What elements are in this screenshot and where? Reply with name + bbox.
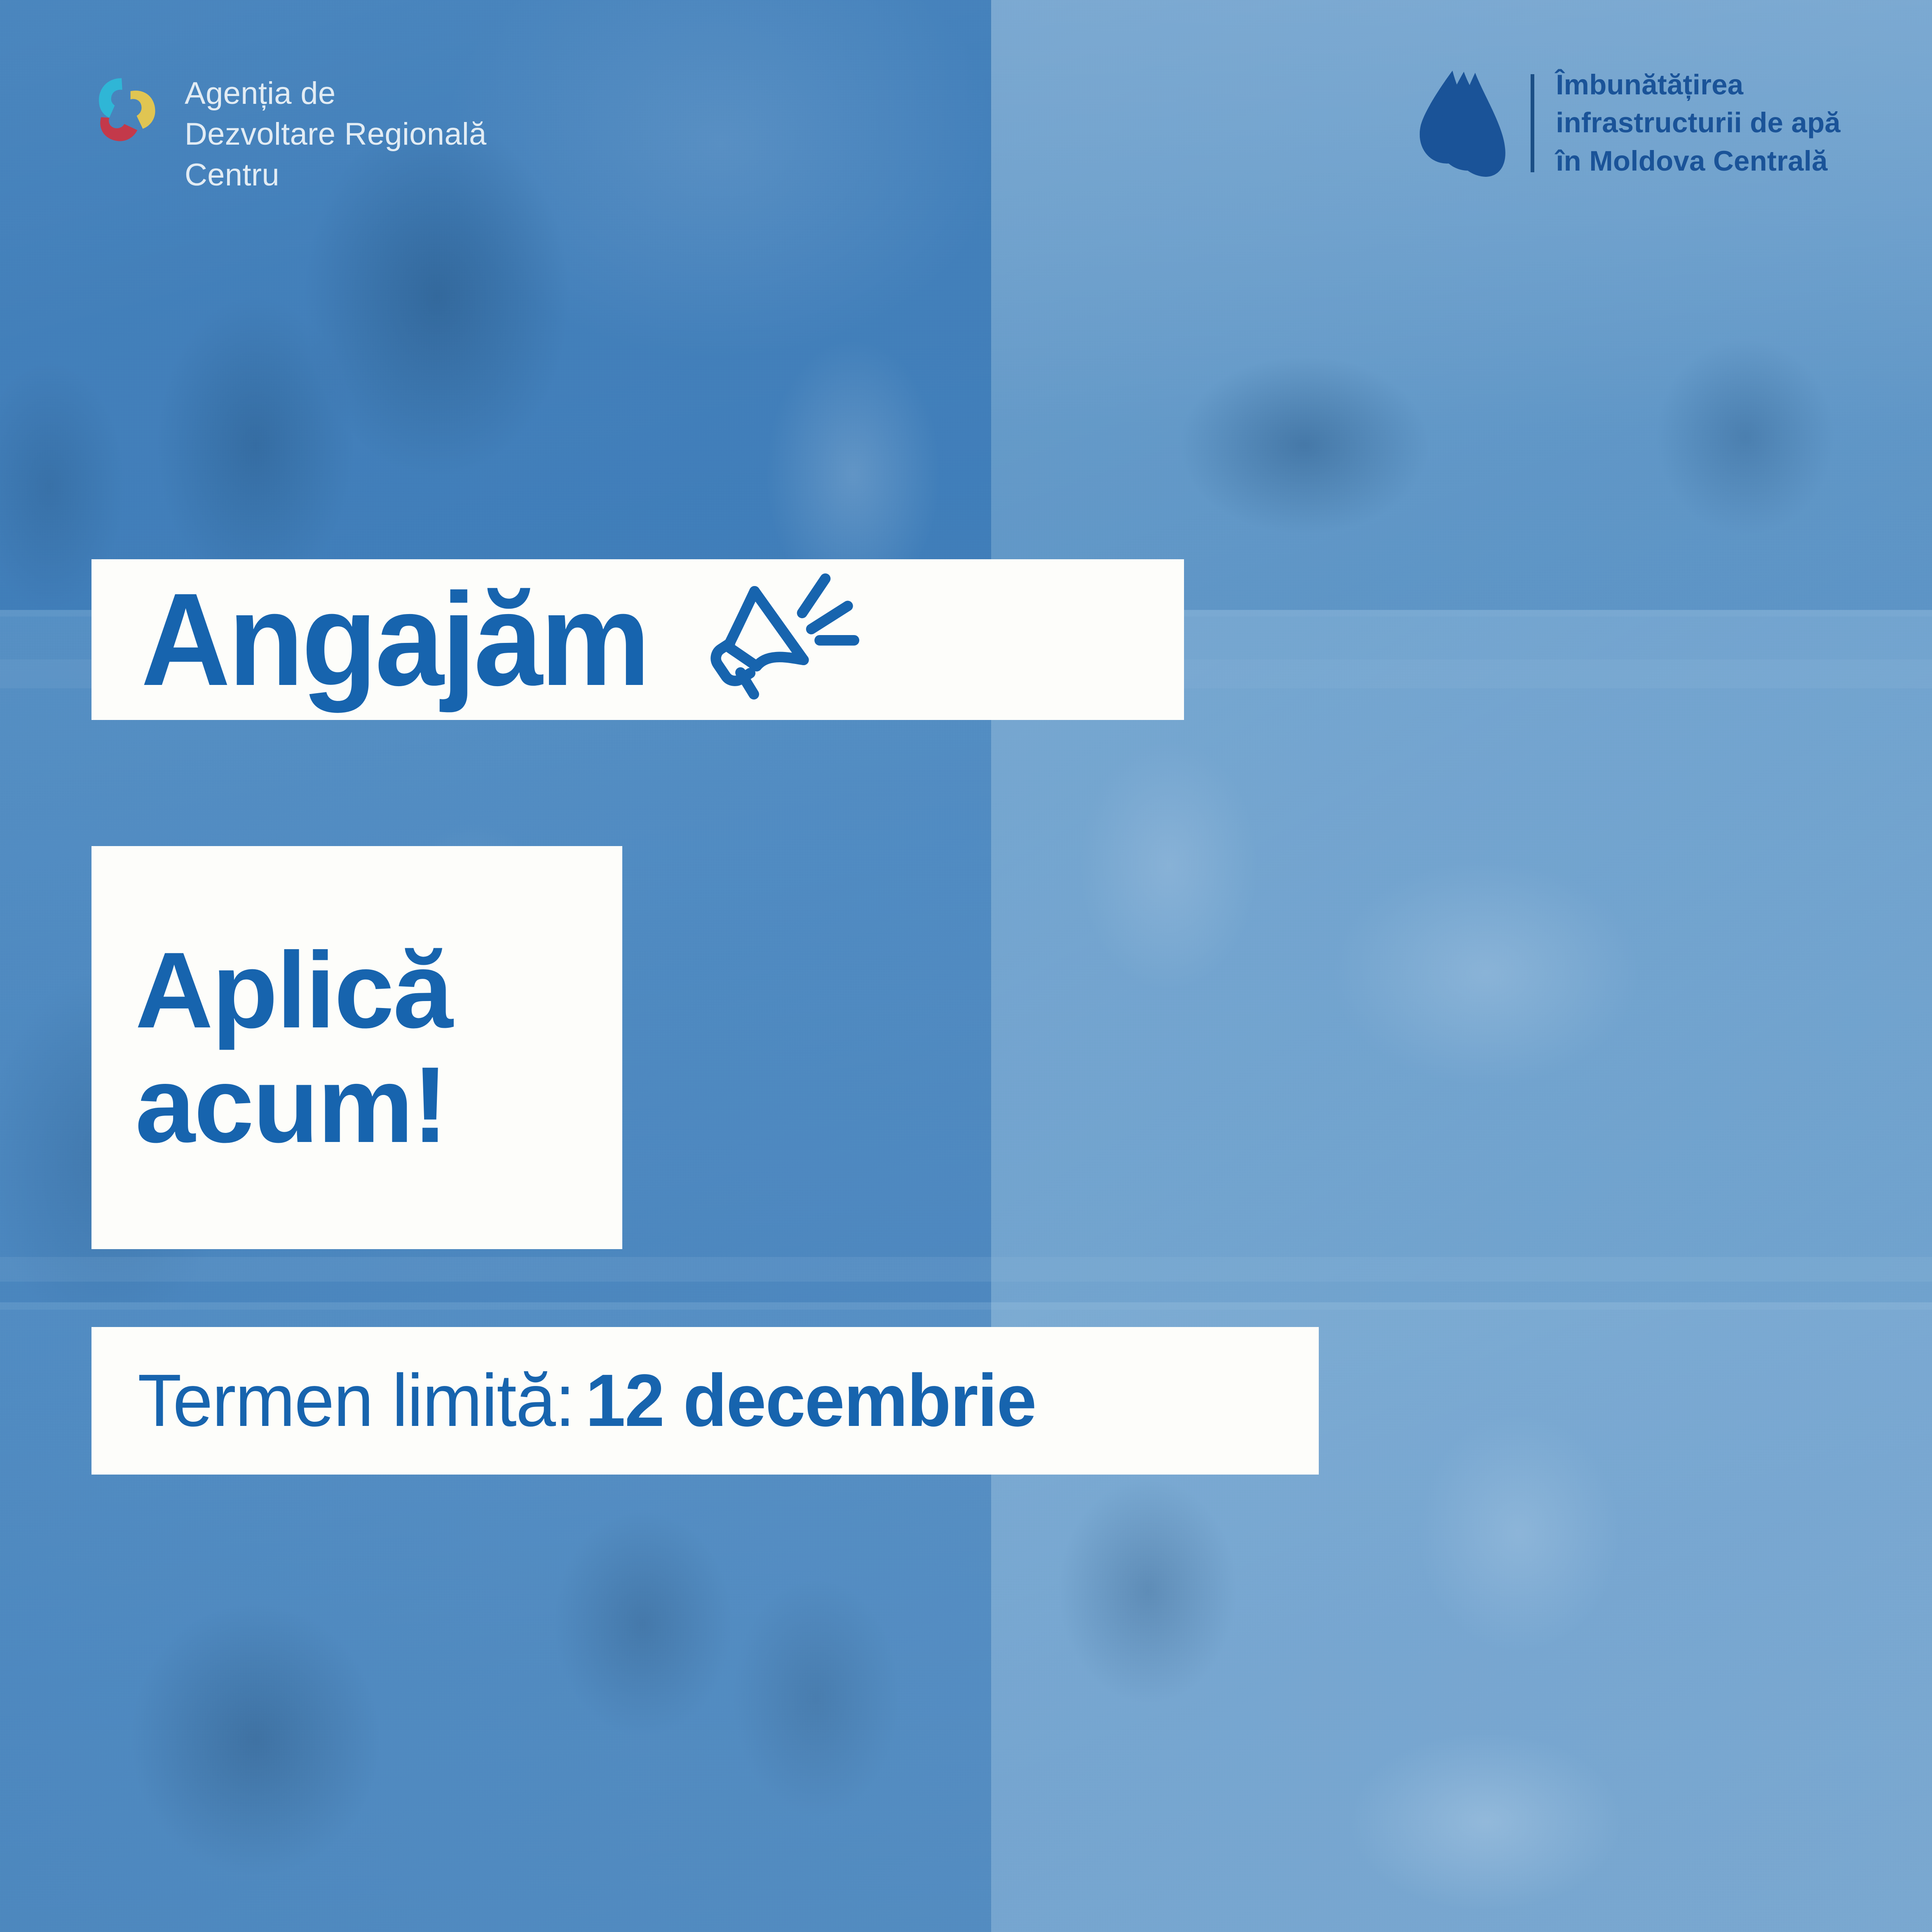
adr-centru-brand: Agenția de Dezvoltare Regională Centru (91, 73, 487, 195)
deadline-line: Termen limită:12 decembrie (138, 1364, 1036, 1438)
page-title: Angajăm (141, 575, 648, 704)
deadline-date: 12 decembrie (586, 1359, 1036, 1442)
deadline-label: Termen limită: (138, 1359, 574, 1442)
adr-centru-name: Agenția de Dezvoltare Regională Centru (185, 73, 487, 195)
cta-panel: Aplică acum! (91, 846, 622, 1249)
water-drop-logo-icon (1410, 68, 1509, 179)
brand-divider (1531, 74, 1534, 172)
poster-header: Agenția de Dezvoltare Regională Centru Î… (0, 0, 1932, 231)
water-project-brand: Îmbunătățirea infrastructurii de apă în … (1410, 66, 1841, 180)
adr-centru-logo-icon (91, 73, 160, 146)
cta-text: Aplică acum! (135, 933, 622, 1162)
water-project-name: Îmbunătățirea infrastructurii de apă în … (1556, 66, 1841, 180)
headline-panel: Angajăm (91, 559, 1184, 720)
megaphone-icon (710, 570, 887, 710)
deadline-panel: Termen limită:12 decembrie (91, 1327, 1319, 1475)
recruitment-poster: Agenția de Dezvoltare Regională Centru Î… (0, 0, 1932, 1932)
